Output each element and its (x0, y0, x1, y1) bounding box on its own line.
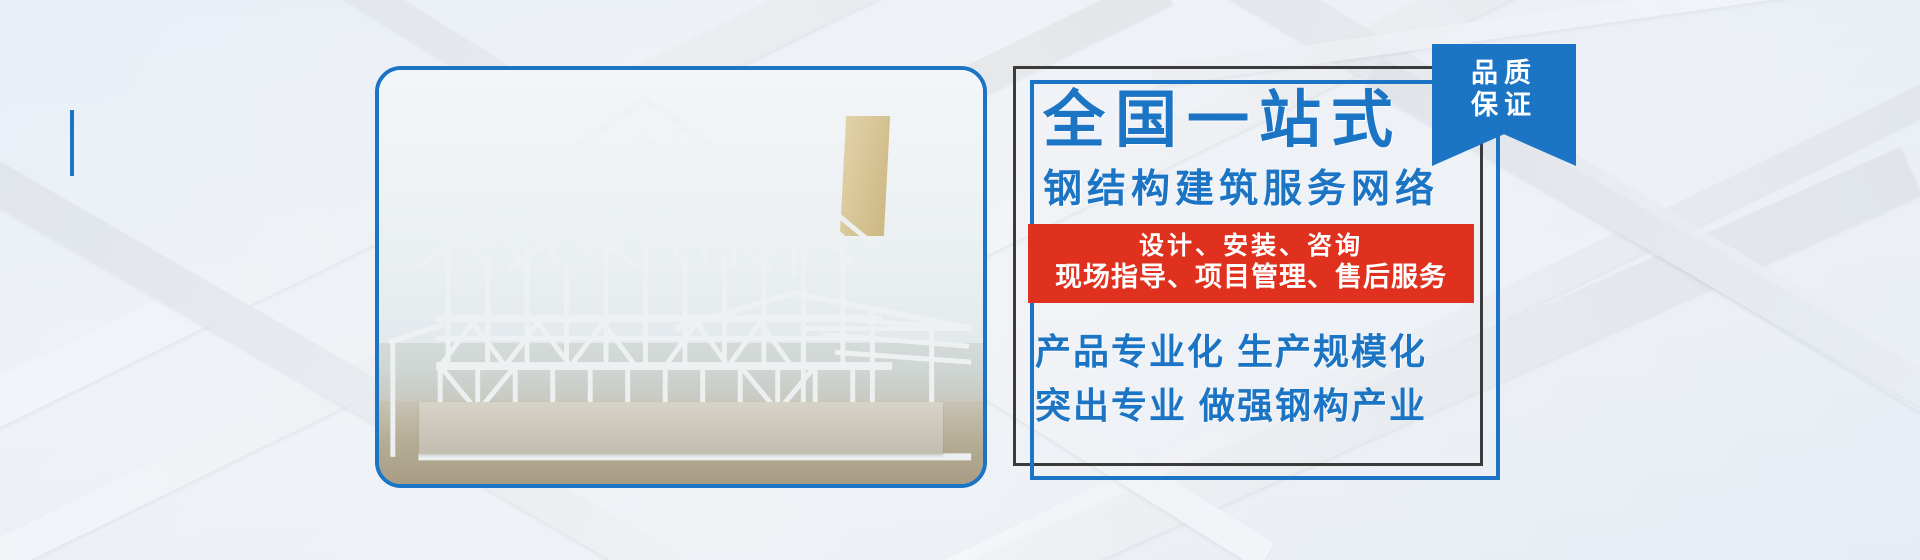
badge-tail (70, 110, 74, 176)
construction-photo (379, 70, 983, 484)
badge-text: 品质 保证 (1432, 58, 1576, 122)
quality-guarantee-badge: 品质 保证 (1432, 44, 1576, 166)
badge-line-2: 保证 (1432, 90, 1576, 122)
headline-secondary: 钢结构建筑服务网络 (1043, 170, 1439, 209)
photo-foundation (419, 402, 943, 454)
slogan-line-2: 突出专业 做强钢构产业 (1035, 388, 1427, 424)
headline-primary: 全国一站式 (1043, 90, 1403, 152)
services-line-2: 现场指导、项目管理、售后服务 (1028, 262, 1474, 294)
badge-line-1: 品质 (1432, 58, 1576, 90)
slogan-line-1: 产品专业化 生产规模化 (1035, 334, 1427, 370)
photo-card (375, 66, 987, 488)
services-highlight-box: 设计、安装、咨询 现场指导、项目管理、售后服务 (1028, 224, 1474, 303)
services-line-1: 设计、安装、咨询 (1028, 232, 1474, 262)
promotional-banner: 全国一站式 钢结构建筑服务网络 设计、安装、咨询 现场指导、项目管理、售后服务 … (0, 0, 1920, 560)
